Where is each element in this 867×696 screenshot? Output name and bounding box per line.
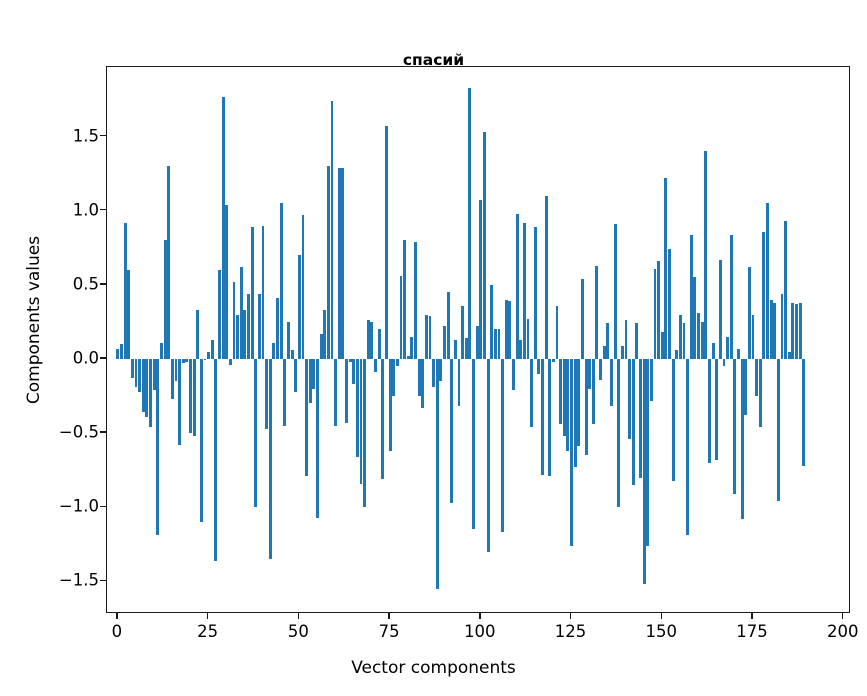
bar: [556, 306, 559, 359]
bar: [327, 166, 330, 359]
bar: [243, 310, 246, 359]
bar: [363, 359, 366, 507]
bar: [592, 359, 595, 424]
matplotlib-figure: спасий ukrconll_upos_cbow_200_10_2022 mo…: [0, 0, 867, 696]
bar: [472, 359, 475, 529]
bar: [585, 359, 588, 455]
bar: [200, 359, 203, 522]
bar: [661, 332, 664, 359]
bar: [595, 266, 598, 359]
bar: [487, 359, 490, 552]
bar: [574, 359, 577, 467]
bar: [222, 97, 225, 359]
x-tick-label: 0: [112, 622, 123, 641]
x-tick-label: 25: [197, 622, 218, 641]
bar: [505, 300, 508, 359]
bar: [167, 166, 170, 359]
bar: [701, 322, 704, 359]
bar: [704, 151, 707, 359]
bar: [381, 359, 384, 479]
bar: [541, 359, 544, 475]
bar: [338, 168, 341, 359]
bar: [175, 359, 178, 381]
bar: [429, 316, 432, 359]
bar: [454, 340, 457, 359]
x-tick-label: 50: [288, 622, 309, 641]
bar: [465, 338, 468, 359]
bar: [116, 349, 119, 359]
bar: [697, 313, 700, 359]
bar: [799, 303, 802, 359]
bar: [617, 359, 620, 507]
bar: [138, 359, 141, 392]
bar: [360, 359, 363, 484]
x-tick-label: 75: [379, 622, 400, 641]
bar: [385, 126, 388, 359]
bar: [784, 221, 787, 359]
bar: [748, 267, 751, 359]
bar: [643, 359, 646, 584]
bar: [483, 132, 486, 359]
bar: [723, 359, 726, 366]
bar: [283, 359, 286, 426]
bar: [458, 359, 461, 406]
bar: [207, 352, 210, 359]
y-tick-label: −1.0: [29, 497, 99, 516]
bar: [606, 323, 609, 359]
bar: [447, 292, 450, 359]
bar: [436, 359, 439, 589]
x-tick-label: 100: [464, 622, 496, 641]
bar: [628, 359, 631, 439]
bar: [251, 227, 254, 359]
bar: [621, 346, 624, 359]
bar: [160, 343, 163, 359]
x-tick-label: 175: [736, 622, 768, 641]
x-tick-label: 125: [555, 622, 587, 641]
bar: [189, 359, 192, 433]
bar: [305, 359, 308, 476]
bar: [614, 224, 617, 359]
bar: [570, 359, 573, 546]
bar: [650, 359, 653, 401]
bar: [312, 359, 315, 389]
bar: [225, 205, 228, 359]
bar: [389, 359, 392, 451]
bar: [490, 285, 493, 359]
bar: [755, 359, 758, 396]
bar: [374, 359, 377, 372]
bar: [149, 359, 152, 427]
bar: [498, 329, 501, 359]
bar: [654, 269, 657, 359]
bar: [523, 223, 526, 359]
bar: [280, 203, 283, 359]
bar: [247, 294, 250, 359]
bar: [345, 359, 348, 423]
bar: [193, 359, 196, 436]
bar: [370, 322, 373, 359]
x-tick-label: 200: [827, 622, 859, 641]
bar: [683, 323, 686, 359]
bar: [625, 320, 628, 359]
y-tick-label: −1.5: [29, 571, 99, 590]
x-tick-mark: [207, 613, 208, 619]
bar: [635, 323, 638, 359]
bar: [410, 337, 413, 359]
x-tick-mark: [842, 613, 843, 619]
y-tick-label: 1.5: [29, 126, 99, 145]
bar: [632, 359, 635, 485]
bar: [323, 310, 326, 359]
bar: [400, 276, 403, 359]
bar: [233, 282, 236, 359]
bar: [309, 359, 312, 403]
bar: [737, 349, 740, 359]
bar: [403, 240, 406, 359]
bar: [287, 322, 290, 359]
bar: [254, 359, 257, 507]
x-tick-mark: [388, 613, 389, 619]
bar: [577, 359, 580, 446]
bar: [773, 303, 776, 359]
bar: [450, 359, 453, 503]
bar: [708, 359, 711, 463]
bar: [679, 315, 682, 359]
bar: [791, 303, 794, 359]
bar: [414, 242, 417, 359]
bar: [124, 223, 127, 359]
bar: [693, 277, 696, 359]
bar: [788, 352, 791, 359]
bar: [156, 359, 159, 535]
x-tick-mark: [298, 613, 299, 619]
x-tick-label: 150: [646, 622, 678, 641]
bar: [646, 359, 649, 546]
bar: [294, 359, 297, 392]
bar: [501, 359, 504, 532]
bar: [581, 279, 584, 359]
bar: [439, 359, 442, 381]
bar: [425, 315, 428, 359]
bar: [418, 359, 421, 396]
bar: [211, 340, 214, 359]
bar: [657, 261, 660, 359]
bar: [468, 88, 471, 359]
bar: [512, 359, 515, 390]
bar: [131, 359, 134, 378]
bar: [145, 359, 148, 417]
bar: [392, 359, 395, 396]
bar: [185, 359, 188, 362]
bar: [214, 359, 217, 561]
bar: [265, 359, 268, 429]
bar: [770, 300, 773, 359]
bar: [378, 329, 381, 359]
x-tick-mark: [661, 613, 662, 619]
bar: [610, 359, 613, 406]
bar: [356, 359, 359, 457]
bar: [545, 196, 548, 359]
bar: [218, 270, 221, 359]
bar: [730, 235, 733, 360]
bar: [672, 359, 675, 481]
bar: [479, 200, 482, 359]
bar: [153, 359, 156, 390]
bar: [196, 310, 199, 359]
bar: [334, 359, 337, 426]
bar: [733, 359, 736, 494]
bar: [690, 235, 693, 360]
bar: [762, 232, 765, 359]
bar: [675, 350, 678, 359]
bar: [548, 359, 551, 476]
bar: [142, 359, 145, 412]
bar: [262, 226, 265, 359]
bar: [352, 359, 355, 384]
bar: [272, 343, 275, 359]
bar: [552, 359, 555, 362]
bar: [120, 344, 123, 359]
bar: [715, 359, 718, 460]
x-tick-mark: [116, 613, 117, 619]
bar: [269, 359, 272, 559]
bar: [781, 294, 784, 359]
bar: [516, 214, 519, 359]
bar: [494, 329, 497, 359]
bar: [588, 359, 591, 389]
bar: [396, 359, 399, 366]
bar: [559, 359, 562, 424]
bar: [759, 359, 762, 427]
bar: [291, 350, 294, 359]
bar: [182, 359, 185, 363]
bar: [664, 178, 667, 359]
bar: [639, 359, 642, 478]
bar: [135, 359, 138, 387]
bar: [341, 168, 344, 359]
bar: [164, 240, 167, 359]
x-tick-mark: [479, 613, 480, 619]
bar: [236, 315, 239, 359]
bar: [349, 359, 352, 362]
bar: [461, 306, 464, 359]
bar: [726, 337, 729, 359]
bar: [527, 319, 530, 359]
bar: [331, 101, 334, 359]
bar: [712, 343, 715, 359]
bar: [599, 359, 602, 380]
x-tick-mark: [751, 613, 752, 619]
bar: [719, 260, 722, 359]
bar: [432, 359, 435, 387]
bar: [178, 359, 181, 445]
bar: [127, 270, 130, 359]
bar-series: [107, 67, 849, 612]
bar: [229, 359, 232, 365]
bar: [668, 249, 671, 359]
bar: [777, 359, 780, 501]
bar: [407, 356, 410, 359]
bar: [298, 255, 301, 359]
bar: [443, 326, 446, 359]
x-axis-label: Vector components: [0, 658, 867, 678]
bar: [741, 359, 744, 519]
bar: [276, 298, 279, 359]
bar: [530, 359, 533, 427]
bar: [316, 359, 319, 518]
bar: [766, 203, 769, 359]
bar: [204, 359, 207, 360]
bar: [537, 359, 540, 374]
bar: [603, 346, 606, 359]
bar: [566, 359, 569, 451]
bar: [519, 340, 522, 359]
bar: [258, 294, 261, 359]
bar: [802, 359, 805, 466]
bar: [171, 359, 174, 399]
bar: [563, 359, 566, 436]
bar: [476, 326, 479, 359]
bar: [744, 359, 747, 415]
bar: [686, 359, 689, 535]
bar: [367, 320, 370, 359]
y-axis-label: Components values: [24, 160, 44, 480]
bar: [534, 227, 537, 359]
bar: [320, 334, 323, 359]
bar: [795, 304, 798, 359]
bar: [302, 215, 305, 359]
plot-axes: [106, 66, 850, 613]
bar: [421, 359, 424, 408]
bar: [508, 301, 511, 359]
bar: [240, 267, 243, 359]
bar: [752, 315, 755, 359]
x-tick-mark: [570, 613, 571, 619]
